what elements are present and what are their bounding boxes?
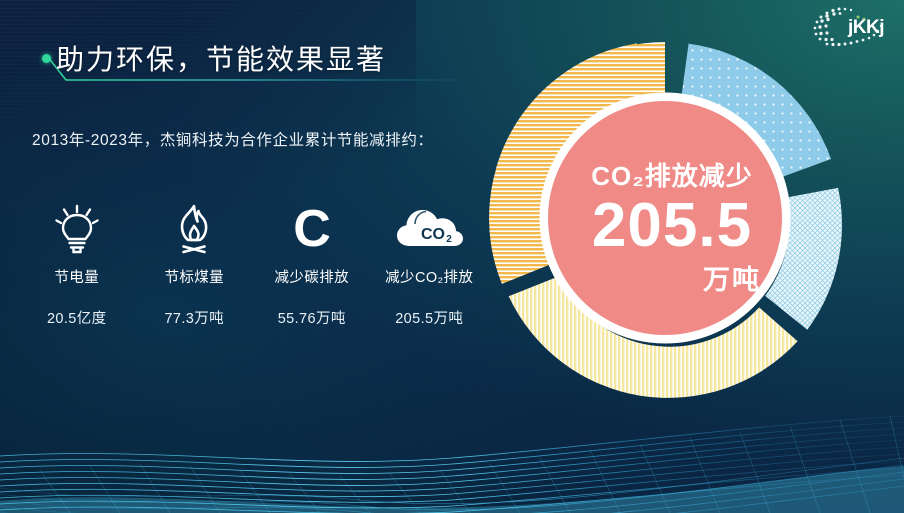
page-title: 助力环保，节能效果显著 (56, 38, 386, 78)
svg-text:C: C (293, 202, 331, 256)
co2-cloud-icon: CO 2 (371, 198, 489, 260)
donut-chart-svg (490, 28, 890, 448)
carbon-c-icon: C (253, 198, 371, 260)
stat-item-power-saved: 节电量 20.5亿度 (18, 198, 136, 328)
subtitle-text: 2013年-2023年，杰锏科技为合作企业累计节能减排约： (32, 126, 484, 156)
lightbulb-icon (18, 198, 136, 260)
stat-item-co2-reduced: CO 2 减少CO₂排放 205.5万吨 (371, 198, 489, 328)
slide-canvas: jKKj 助力环保，节能效果显著 2013年-2023年，杰锏科技为合作企业累计… (0, 0, 904, 513)
stat-label: 节电量 (18, 266, 136, 287)
stat-value: 205.5万吨 (371, 307, 489, 328)
stats-row: 节电量 20.5亿度 节标煤量 77.3万吨 C (18, 198, 488, 328)
flame-icon (136, 198, 254, 260)
stat-value: 20.5亿度 (18, 307, 136, 328)
stat-label: 减少碳排放 (253, 266, 371, 287)
stat-value: 55.76万吨 (253, 307, 371, 328)
donut-chart (490, 28, 890, 448)
stat-label: 节标煤量 (136, 266, 254, 287)
donut-center-circle (548, 101, 782, 335)
stat-item-carbon-reduced: C 减少碳排放 55.76万吨 (253, 198, 371, 328)
stat-item-coal-saved: 节标煤量 77.3万吨 (136, 198, 254, 328)
stat-label: 减少CO₂排放 (371, 266, 489, 287)
stat-value: 77.3万吨 (136, 307, 254, 328)
